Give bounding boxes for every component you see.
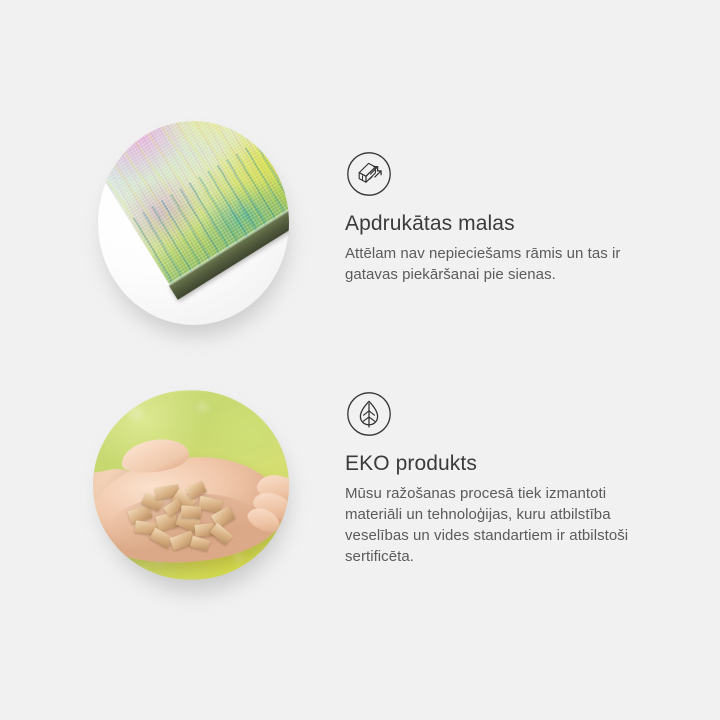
printed-edges-image: [98, 121, 289, 325]
wood-chip-pile: [125, 482, 247, 558]
printed-edges-title: Apdrukātas malas: [345, 212, 515, 236]
feature-eko-product: EKO produkts Mūsu ražošanas procesā tiek…: [0, 340, 720, 720]
eko-description: Mūsu ražošanas procesā tiek izmantoti ma…: [345, 483, 690, 567]
wrapped-canvas-edges-icon: [346, 151, 392, 197]
cupped-hands: [93, 442, 289, 568]
leaf-icon: [346, 391, 392, 437]
eko-image: [93, 390, 289, 580]
feature-printed-edges: Apdrukātas malas Attēlam nav nepieciešam…: [0, 0, 720, 340]
eko-title: EKO produkts: [345, 452, 477, 476]
printed-edges-description: Attēlam nav nepieciešams rāmis un tas ir…: [345, 243, 685, 285]
product-features-page: Apdrukātas malas Attēlam nav nepieciešam…: [0, 0, 720, 720]
